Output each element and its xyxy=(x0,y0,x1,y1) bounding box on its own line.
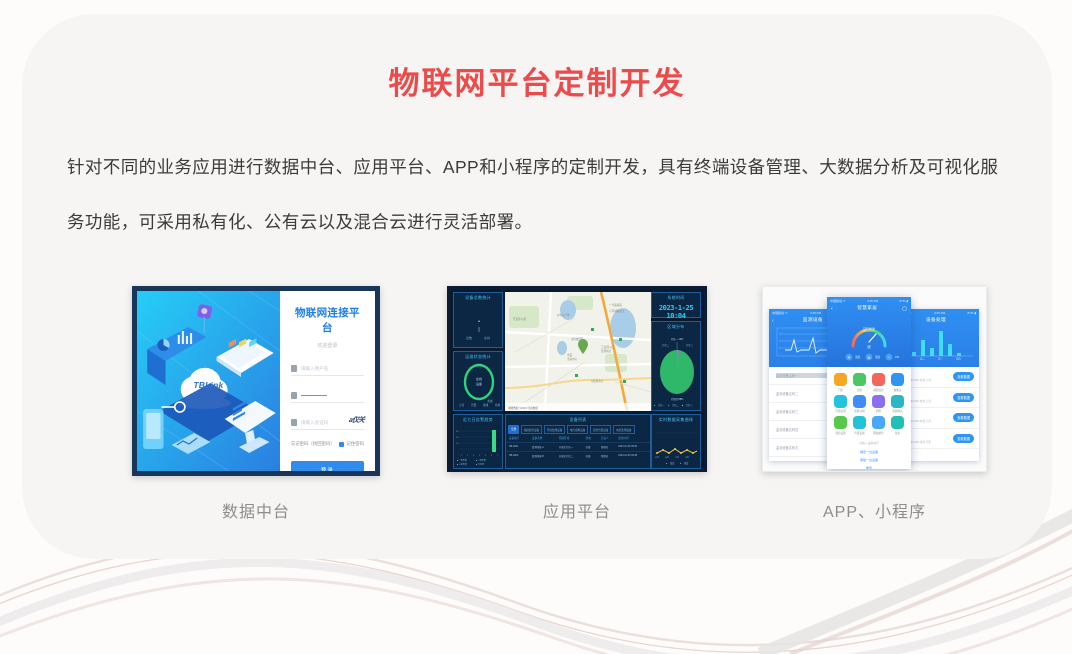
table-row[interactable]: SB-0002 监测终端 B 开发区片区二 在线 管理员 2023-01-25 … xyxy=(506,451,650,460)
gauge-value: 优 xyxy=(867,344,871,349)
svg-text:正常: 正常 xyxy=(459,403,465,407)
axis-label: 周二 xyxy=(920,357,925,361)
table-header-cell: 负责人 xyxy=(601,436,618,440)
content-card: 物联网平台定制开发 针对不同的业务应用进行数据中台、应用平台、APP和小程序的定… xyxy=(22,14,1052,559)
stat-graphic: • | 总数在线 xyxy=(454,301,504,343)
camera-icon xyxy=(891,373,904,386)
table-cell: SB-0002 xyxy=(509,454,532,458)
panel-title: 运维状态统计 xyxy=(454,352,502,360)
phone-title: 智慧家居 xyxy=(833,303,902,314)
description-text: 针对不同的业务应用进行数据中台、应用平台、APP和小程序的定制开发，具有终端设备… xyxy=(67,140,1007,250)
svg-text:离线: 离线 xyxy=(487,399,493,403)
svg-text:一号路辅道: 一号路辅道 xyxy=(609,303,622,307)
page-title: 物联网平台定制开发 xyxy=(22,58,1052,103)
svg-text:开发区公园: 开发区公园 xyxy=(513,317,526,321)
table-cell: 2023-01-25 09:52 xyxy=(618,445,647,449)
thumbnail-application-platform[interactable]: 设备总数统计 • | 总数在线 运维状态统计 xyxy=(447,286,707,472)
table-header-cell: 所属区域 xyxy=(559,436,586,440)
grid-icon-cell[interactable]: 照明 xyxy=(870,395,887,414)
panel-title: 设备列表 xyxy=(506,415,650,423)
table-row[interactable]: SB-0001 监测终端 A 开发区片区一 在线 管理员 2023-01-25 … xyxy=(506,442,650,451)
view-data-button[interactable]: 查看数据 xyxy=(953,434,974,443)
captcha-image[interactable]: a仅关 xyxy=(348,415,364,425)
lock-icon xyxy=(291,392,297,399)
panel-ops-status[interactable]: 运维状态统计 在线 设备 正常 离线 正常告警离线停用 xyxy=(453,351,503,411)
dashboard-canvas: 设备总数统计 • | 总数在线 运维状态统计 xyxy=(450,289,704,469)
svg-text:3: 3 xyxy=(473,455,475,457)
svg-text:在线: 在线 xyxy=(484,335,490,340)
grid-icon-cell[interactable]: 智能音响 xyxy=(851,395,868,414)
svg-text:告警: 告警 xyxy=(471,403,477,407)
line-chart: 00时06时12时18时 ■温度 ■湿度 xyxy=(652,423,702,467)
table-cell: 监测终端 A xyxy=(532,445,559,449)
metric-label: 湿度 xyxy=(875,355,881,359)
grid-icon-label: 安防 xyxy=(851,388,868,392)
grid-icon-cell[interactable]: 能耗统计 xyxy=(870,416,887,435)
svg-text:30: 30 xyxy=(456,431,459,433)
table-cell: 管理员 xyxy=(601,445,618,449)
grid-icon-label: 视频监控 xyxy=(870,388,887,392)
svg-text:•: • xyxy=(478,319,480,325)
forgot-password-link[interactable]: 忘记密码（找回密码） xyxy=(291,441,335,447)
battery-label: 87% ▮ xyxy=(967,311,976,315)
svg-text:■ 二级告警: ■ 二级告警 xyxy=(476,458,486,462)
lighting-icon xyxy=(872,395,885,408)
panel-system-clock: 系统时间 2023-1-25 10:04 xyxy=(651,292,701,318)
view-data-button[interactable]: 查看数据 xyxy=(953,393,974,402)
phone-screen-smart-home[interactable]: 中国移动 ᯤ 4:25 PM 87% ▮ ‹ 智慧家居 ◯ xyxy=(827,297,911,469)
grid-icon-cell[interactable]: 视频监控 xyxy=(870,373,887,392)
svg-text:■: ■ xyxy=(682,404,684,407)
svg-text:与环城路交叉: 与环城路交叉 xyxy=(609,309,625,313)
svg-text:|: | xyxy=(478,327,479,333)
svg-text:6: 6 xyxy=(491,455,493,457)
tab-item[interactable]: 水质监测设备 xyxy=(613,425,635,434)
svg-text:■: ■ xyxy=(668,404,670,407)
security-icon xyxy=(853,373,866,386)
panel-device-table[interactable]: 设备列表 全部 视频监控设备 环境监测设备 电力巡检设备 安防告警设备 水质监测… xyxy=(505,414,651,469)
donut-chart: 在线 设备 正常 离线 正常告警离线停用 xyxy=(454,360,504,408)
login-illustration: TBLink xyxy=(137,291,280,471)
captcha-placeholder: 请输入验证码 xyxy=(301,420,329,426)
svg-text:停用: 停用 xyxy=(495,403,501,407)
username-placeholder: 请输入用户名 xyxy=(301,366,329,372)
svg-text:片区一: 片区一 xyxy=(658,403,665,407)
login-subtitle: 欢迎登录 xyxy=(291,342,364,349)
bind-device-link[interactable]: 绑定一台设备 xyxy=(827,450,911,454)
metric-label: PM xyxy=(895,355,899,359)
gateway-icon xyxy=(891,395,904,408)
password-field[interactable] xyxy=(291,389,364,403)
svg-text:活动中心: 活动中心 xyxy=(567,357,578,361)
device-input-hint[interactable]: 请输入设备编号 xyxy=(827,441,911,445)
bar-chart: 302010 123 4567 ■ 一级告警■ 二级告警 ■ 三级告警■ 已处理 xyxy=(454,423,504,467)
svg-text:5: 5 xyxy=(485,455,487,457)
panel-area-distribution[interactable]: 区域分布 片区一 12% 片区二 片区三 片区四 88% ■片区一 xyxy=(651,321,701,411)
refresh-icon[interactable]: ◯ xyxy=(902,306,907,312)
alarm-icon xyxy=(853,416,866,429)
svg-text:■ 三级告警: ■ 三级告警 xyxy=(457,462,467,466)
grid-icon-label: 智能网关 xyxy=(889,409,906,413)
svg-text:Q中心广场: Q中心广场 xyxy=(557,313,570,317)
user-icon xyxy=(291,365,297,372)
axis-label: 周四 xyxy=(956,357,961,361)
svg-text:2: 2 xyxy=(467,455,469,457)
grid-icon-label: 摄像头 xyxy=(889,388,906,392)
thumbnail-caption: 数据中台 xyxy=(132,498,380,522)
grid-icon-label: 告警设备 xyxy=(851,431,868,435)
grid-icon-label: 更多 xyxy=(889,431,906,435)
svg-text:■ 一级告警: ■ 一级告警 xyxy=(457,458,467,462)
table-cell: 管理员 xyxy=(601,454,618,458)
login-submit-button[interactable]: 登录 xyxy=(291,461,364,476)
thumbnail-caption: 应用平台 xyxy=(447,498,707,522)
grid-icon-label: 环境监测 xyxy=(832,409,849,413)
energy-icon xyxy=(872,416,885,429)
screenshot-mobile-app: 中国移动 ᯤ 4:25 PM 87% ▮ ‹ 监测设备 xyxy=(762,286,987,472)
grid-icon-cell[interactable]: 智能网关 xyxy=(889,395,906,414)
svg-text:■: ■ xyxy=(666,462,668,465)
thumbnail-caption: APP、小程序 xyxy=(762,498,987,522)
grid-icon-label: 照明 xyxy=(870,409,887,413)
clock-value: 2023-1-25 10:04 xyxy=(657,304,695,315)
axis-label: 周三 xyxy=(938,357,943,361)
svg-text:06时: 06时 xyxy=(665,455,669,459)
panel-title: 近七日告警趋势 xyxy=(454,415,502,423)
grid-icon-label: 智能音响 xyxy=(851,409,868,413)
svg-text:■: ■ xyxy=(654,404,656,407)
captcha-field[interactable]: 请输入验证码 a仅关 xyxy=(291,416,364,430)
svg-text:市民: 市民 xyxy=(567,353,573,357)
svg-text:工业园入口: 工业园入口 xyxy=(601,345,614,349)
svg-text:1: 1 xyxy=(461,455,463,457)
svg-text:■: ■ xyxy=(680,462,682,465)
screenshot-gis-dashboard: 设备总数统计 • | 总数在线 运维状态统计 xyxy=(447,286,707,472)
table-cell: 在线 xyxy=(586,445,601,449)
clock-label: 4:25 PM xyxy=(934,311,945,315)
username-field[interactable]: 请输入用户名 xyxy=(291,362,364,376)
app-icon-grid: 门禁 安防 视频监控 xyxy=(827,367,911,437)
tab-item[interactable]: 电力巡检设备 xyxy=(567,425,589,434)
svg-text:10: 10 xyxy=(456,443,459,445)
air-quality-gauge: 空气质量 优 ❄ 温度 ◍ 湿度 ≈ PM xyxy=(827,314,911,362)
login-options: 忘记密码（找回密码） 记住密码 xyxy=(291,441,364,447)
panel-title: 设备总数统计 xyxy=(454,293,502,301)
speaker-icon xyxy=(853,395,866,408)
table-cell: 2023-01-25 09:48 xyxy=(618,454,647,458)
svg-text:片区三: 片区三 xyxy=(686,403,693,407)
table-header-row: 设备编号 设备名称 所属区域 状态 负责人 更新时间 xyxy=(506,434,650,442)
svg-text:片区三: 片区三 xyxy=(686,343,694,347)
svg-text:温度: 温度 xyxy=(670,461,675,465)
table-header-cell: 状态 xyxy=(586,436,601,440)
grid-icon-cell[interactable]: 更多 xyxy=(889,416,906,435)
panel-device-total[interactable]: 设备总数统计 • | 总数在线 xyxy=(453,292,503,348)
environment-icon xyxy=(834,395,847,408)
phone-header: 中国移动 ᯤ 4:25 PM 87% ▮ ‹ 智慧家居 ◯ xyxy=(827,297,911,367)
panel-alarm-trend[interactable]: 近七日告警趋势 302010 xyxy=(453,414,503,469)
tab-item[interactable]: 环境监测设备 xyxy=(544,425,566,434)
shield-icon xyxy=(291,419,297,426)
svg-text:Q会展中心: Q会展中心 xyxy=(591,379,604,383)
view-data-button[interactable]: 查看数据 xyxy=(953,413,974,422)
remember-label: 记住密码 xyxy=(346,441,364,447)
table-header-cell: 设备名称 xyxy=(532,436,559,440)
brand-logo: TBLink xyxy=(193,380,223,390)
svg-text:正常: 正常 xyxy=(476,363,482,367)
svg-text:7: 7 xyxy=(497,455,499,457)
table-header-cell: 设备编号 xyxy=(509,436,532,440)
svg-text:4: 4 xyxy=(479,455,481,457)
grid-icon-cell[interactable]: 摄像头 xyxy=(889,373,906,392)
table-cell: 在线 xyxy=(586,454,601,458)
thumbnail-data-platform[interactable]: TBLink 物联网连接平台 欢迎登录 请输入用户名 xyxy=(132,286,380,476)
grid-icon-cell[interactable]: 安防 xyxy=(851,373,868,392)
svg-text:■ 已处理: ■ 已处理 xyxy=(476,462,484,466)
svg-text:湿度: 湿度 xyxy=(684,461,689,465)
panel-title: 区域分布 xyxy=(652,322,700,330)
table-tabs[interactable]: 全部 视频监控设备 环境监测设备 电力巡检设备 安防告警设备 水质监测设备 xyxy=(506,423,650,434)
gauge-label: 空气质量 xyxy=(863,326,875,331)
login-title: 物联网连接平台 xyxy=(291,305,364,335)
view-data-button[interactable]: 查看数据 xyxy=(953,372,974,381)
svg-text:总数: 总数 xyxy=(466,335,472,340)
grid-icon-cell[interactable]: 门禁 xyxy=(832,373,849,392)
table-cell: 开发区片区一 xyxy=(559,445,586,449)
svg-text:—: — xyxy=(779,353,782,355)
panel-title: 实时数据采集曲线 xyxy=(652,415,700,423)
grid-icon-cell[interactable]: 环境监测 xyxy=(832,395,849,414)
metric-label: 温度 xyxy=(855,355,861,359)
grid-icon-label: 能耗统计 xyxy=(870,431,887,435)
svg-text:◍: ◍ xyxy=(868,355,871,359)
map-graphic: 开发区公园Q中心广场 Q科技园区市民 活动中心Q会展中心 一号路辅道与环城路交叉… xyxy=(505,292,651,411)
panel-title: 系统时间 xyxy=(652,293,700,301)
table-cell: 监测终端 B xyxy=(532,454,559,458)
video-monitor-icon xyxy=(872,373,885,386)
grid-icon-cell[interactable]: 告警设备 xyxy=(851,416,868,435)
tab-item[interactable]: 安防告警设备 xyxy=(590,425,612,434)
table-cell: SB-0001 xyxy=(509,445,532,449)
add-device-link[interactable]: 添加一台设备 xyxy=(827,458,911,462)
slide-root: 物联网平台定制开发 针对不同的业务应用进行数据中台、应用平台、APP和小程序的定… xyxy=(0,0,1072,654)
pie-chart: 片区一 12% 片区二 片区三 片区四 88% ■片区一 ■片区二 ■片区三 xyxy=(652,330,702,408)
more-icon xyxy=(891,416,904,429)
login-form: 物联网连接平台 欢迎登录 请输入用户名 请输入验证码 xyxy=(280,291,375,471)
svg-text:片区一 12%: 片区一 12% xyxy=(671,337,684,341)
svg-text:地图数据 ©2023 导航数据: 地图数据 ©2023 导航数据 xyxy=(508,406,538,410)
password-mask xyxy=(301,395,327,397)
thumbnail-app-miniprogram[interactable]: 中国移动 ᯤ 4:25 PM 87% ▮ ‹ 监测设备 xyxy=(762,286,987,472)
svg-text:12时: 12时 xyxy=(675,455,679,459)
svg-text:20: 20 xyxy=(456,437,459,439)
reset-link[interactable]: 重置 xyxy=(827,466,911,470)
svg-text:片区四 88%: 片区四 88% xyxy=(671,397,684,401)
tab-item[interactable]: 全部 xyxy=(508,425,519,434)
svg-text:离线: 离线 xyxy=(483,403,489,407)
table-cell: 开发区片区二 xyxy=(559,454,586,458)
svg-text:00时: 00时 xyxy=(655,455,659,459)
svg-text:在线: 在线 xyxy=(476,376,482,381)
svg-text:设备: 设备 xyxy=(476,381,482,386)
table-header-cell: 更新时间 xyxy=(618,436,647,440)
panel-realtime-line[interactable]: 实时数据采集曲线 00时06时12时18时 xyxy=(651,414,701,469)
door-access-icon xyxy=(834,373,847,386)
screenshot-login-page: TBLink 物联网连接平台 欢迎登录 请输入用户名 xyxy=(132,286,380,476)
thermostat-icon xyxy=(834,416,847,429)
map-view[interactable]: 开发区公园Q中心广场 Q科技园区市民 活动中心Q会展中心 一号路辅道与环城路交叉… xyxy=(505,292,651,411)
svg-text:Q科技园区: Q科技园区 xyxy=(571,337,584,341)
remember-me-checkbox[interactable]: 记住密码 xyxy=(339,441,364,447)
svg-text:监测站点: 监测站点 xyxy=(601,349,612,353)
svg-text:片区二: 片区二 xyxy=(662,343,670,347)
thumbnail-row: TBLink 物联网连接平台 欢迎登录 请输入用户名 xyxy=(67,286,1007,486)
grid-icon-cell[interactable]: 温控设备 xyxy=(832,416,849,435)
tab-item[interactable]: 视频监控设备 xyxy=(521,425,543,434)
grid-icon-label: 门禁 xyxy=(832,388,849,392)
checkbox-icon xyxy=(339,442,344,447)
svg-text:片区二: 片区二 xyxy=(672,403,679,407)
grid-icon-label: 温控设备 xyxy=(832,431,849,435)
svg-text:18时: 18时 xyxy=(685,455,689,459)
